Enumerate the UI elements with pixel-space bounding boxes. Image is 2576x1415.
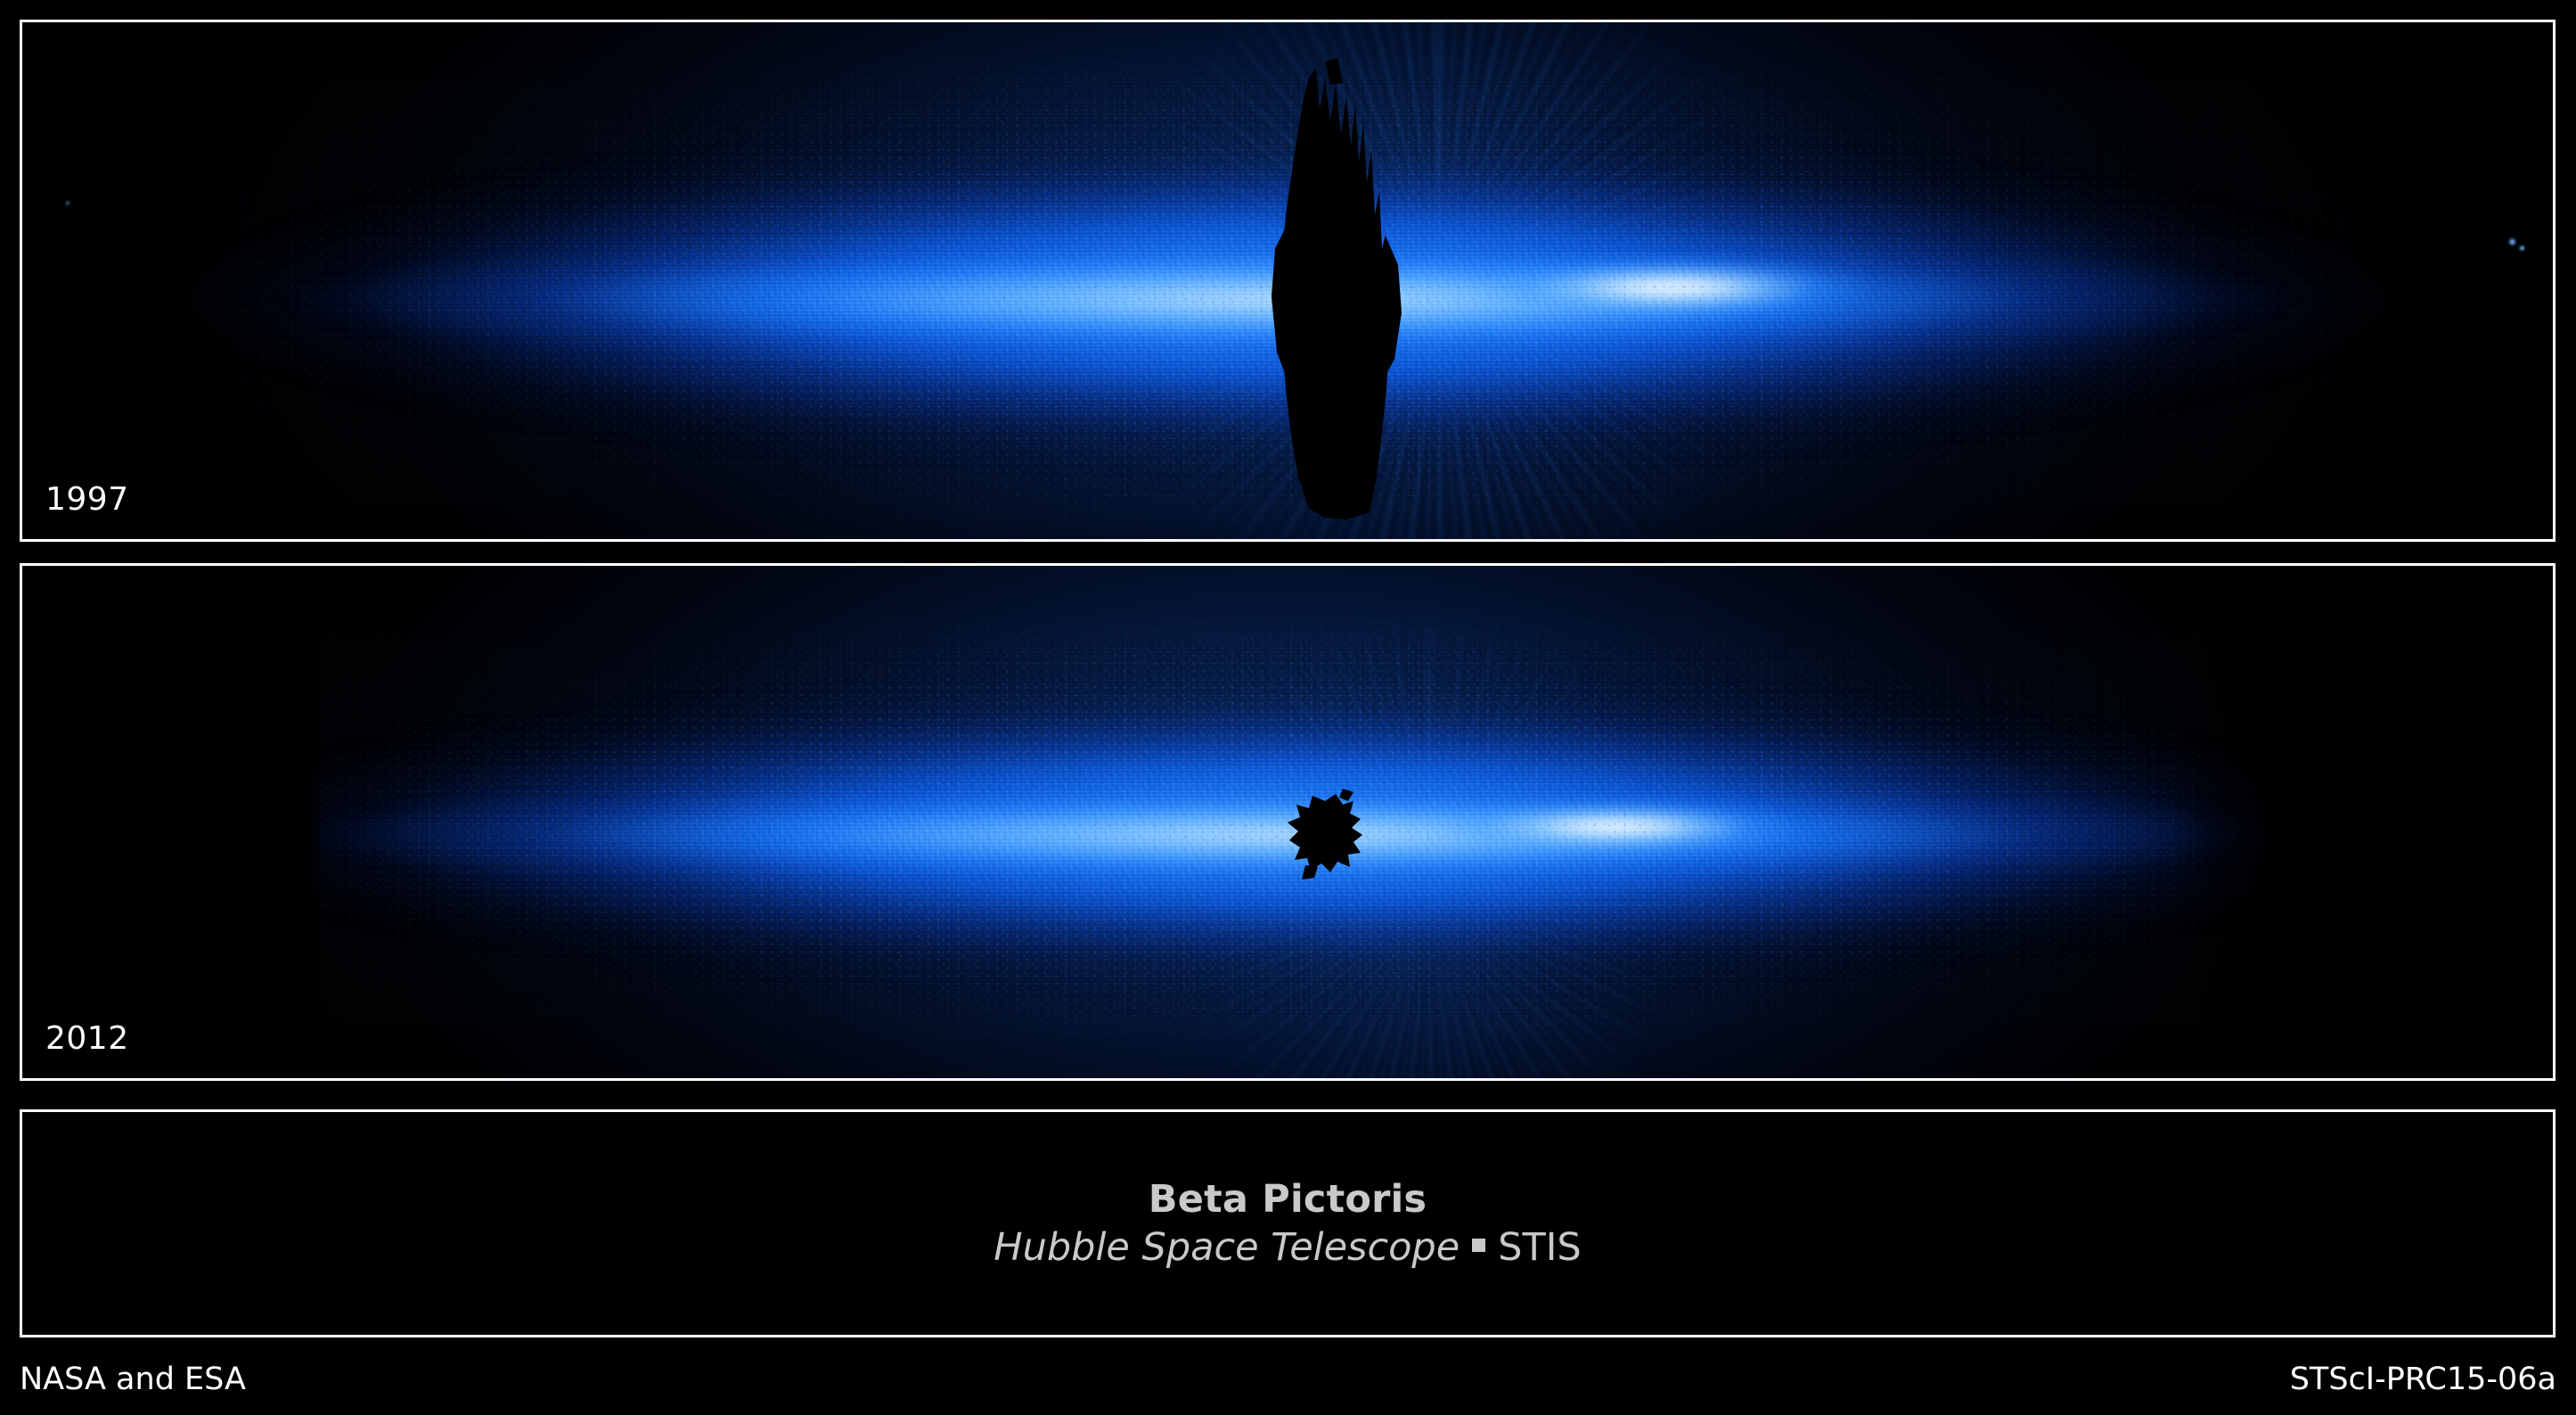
caption-telescope-name: Hubble Space Telescope — [994, 1227, 1460, 1268]
disk-speckle-grain-1997 — [22, 58, 2553, 521]
image-panel-1997: 1997 — [20, 20, 2556, 542]
coronagraph-occulter-2012 — [1279, 789, 1377, 887]
credit-agencies: NASA and ESA — [20, 1364, 246, 1395]
figure-root: 1997 2012 — [0, 0, 2576, 1415]
image-panel-2012: 2012 — [20, 563, 2556, 1081]
sky-field-1997: 1997 — [22, 22, 2553, 539]
disk-pixel-noise-1997 — [22, 76, 2553, 503]
coronagraph-occulter-1997 — [1261, 58, 1403, 521]
caption-title: Beta Pictoris — [1149, 1179, 1427, 1220]
caption-content: Beta Pictoris Hubble Space Telescope STI… — [22, 1112, 2553, 1335]
disk-halo-1997 — [22, 22, 2553, 539]
point-source-icon — [2508, 238, 2516, 246]
disk-bright-knot-2012 — [1439, 799, 1822, 855]
fov-cutoff-right-2012 — [2170, 566, 2553, 1078]
year-label-1997: 1997 — [45, 484, 129, 516]
caption-subtitle: Hubble Space Telescope STIS — [994, 1227, 1581, 1268]
point-source-icon — [65, 200, 70, 206]
disk-radial-streaks-2012 — [1172, 593, 1689, 1078]
disk-bright-knot-1997 — [1484, 256, 1893, 320]
fov-cutoff-left-2012 — [22, 566, 325, 1078]
disk-spine-1997 — [22, 233, 2553, 366]
square-bullet-icon — [1472, 1239, 1485, 1252]
disk-midplane-1997 — [22, 134, 2553, 463]
point-source-icon — [2519, 245, 2525, 251]
caption-panel: Beta Pictoris Hubble Space Telescope STI… — [20, 1109, 2556, 1337]
credit-release-id: STScI-PRC15-06a — [2290, 1364, 2556, 1395]
year-label-2012: 2012 — [45, 1023, 129, 1055]
caption-instrument-name: STIS — [1498, 1227, 1582, 1268]
sky-field-2012: 2012 — [22, 566, 2553, 1078]
disk-radial-streaks-1997 — [1118, 22, 1760, 539]
